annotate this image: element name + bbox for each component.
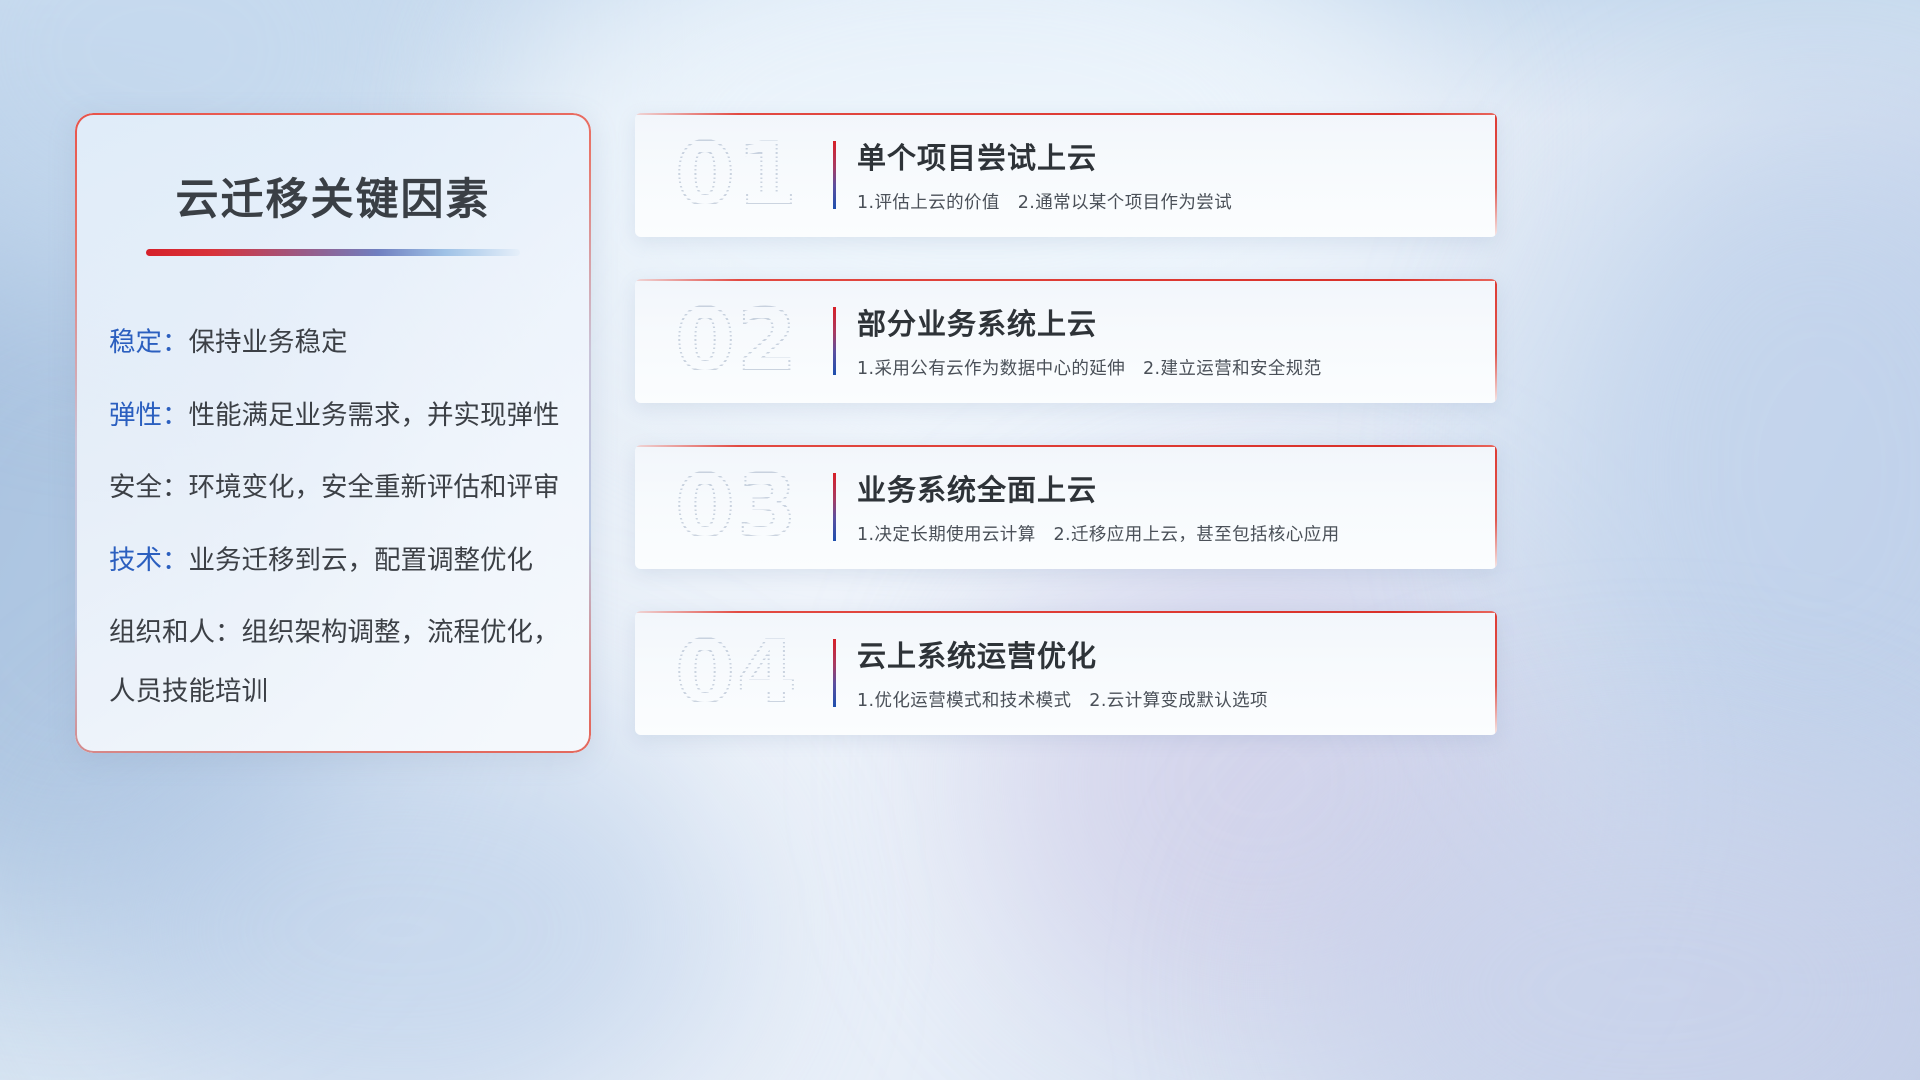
- list-item: 技术：业务迁移到云，配置调整优化: [109, 548, 591, 575]
- stage-card[interactable]: 03 业务系统全面上云 1.决定长期使用云计算 2.迁移应用上云，甚至包括核心应…: [635, 445, 1497, 569]
- stage-title: 业务系统全面上云: [857, 467, 1457, 509]
- list-item: 安全：环境变化，安全重新评估和评审: [109, 475, 591, 502]
- stage-title: 单个项目尝试上云: [857, 135, 1457, 177]
- stage-card-list: 01 单个项目尝试上云 1.评估上云的价值 2.通常以某个项目作为尝试 02 部…: [635, 113, 1497, 777]
- factor-label: 稳定：: [109, 327, 189, 358]
- stage-number-02: 02: [657, 293, 817, 389]
- factor-text: 性能满足业务需求，并实现弹性: [189, 400, 560, 431]
- stage-title: 云上系统运营优化: [857, 633, 1457, 675]
- list-item: 弹性：性能满足业务需求，并实现弹性: [109, 403, 591, 430]
- stage-description: 1.采用公有云作为数据中心的延伸 2.建立运营和安全规范: [857, 355, 1457, 380]
- stage-card[interactable]: 04 云上系统运营优化 1.优化运营模式和技术模式 2.云计算变成默认选项: [635, 611, 1497, 735]
- stage-number-04: 04: [657, 625, 817, 721]
- stage-number-01: 01: [657, 127, 817, 223]
- stage-description: 1.优化运营模式和技术模式 2.云计算变成默认选项: [857, 687, 1457, 712]
- list-item-continuation: 人员技能培训: [109, 679, 591, 706]
- list-item: 组织和人：组织架构调整，流程优化，: [109, 620, 591, 647]
- stage-number-text: 04: [675, 623, 799, 723]
- stage-number-text: 03: [675, 457, 799, 557]
- stage-accent-bar: [833, 473, 836, 541]
- stage-title: 部分业务系统上云: [857, 301, 1457, 343]
- factor-label: 组织和人：: [109, 617, 242, 648]
- list-item: 稳定：保持业务稳定: [109, 330, 591, 357]
- stage-number-03: 03: [657, 459, 817, 555]
- key-factors-panel: 云迁移关键因素 稳定：保持业务稳定 弹性：性能满足业务需求，并实现弹性 安全：环…: [75, 113, 591, 753]
- title-underline: [146, 249, 520, 256]
- factor-text: 保持业务稳定: [189, 327, 348, 358]
- stage-card[interactable]: 02 部分业务系统上云 1.采用公有云作为数据中心的延伸 2.建立运营和安全规范: [635, 279, 1497, 403]
- stage-number-text: 01: [675, 125, 799, 225]
- factor-text: 环境变化，安全重新评估和评审: [189, 472, 560, 503]
- factor-label: 安全：: [109, 472, 189, 503]
- factor-list: 稳定：保持业务稳定 弹性：性能满足业务需求，并实现弹性 安全：环境变化，安全重新…: [75, 256, 591, 705]
- stage-card[interactable]: 01 单个项目尝试上云 1.评估上云的价值 2.通常以某个项目作为尝试: [635, 113, 1497, 237]
- stage-number-text: 02: [675, 291, 799, 391]
- factor-label: 弹性：: [109, 400, 189, 431]
- stage-accent-bar: [833, 307, 836, 375]
- stage-description: 1.评估上云的价值 2.通常以某个项目作为尝试: [857, 189, 1457, 214]
- stage-accent-bar: [833, 141, 836, 209]
- stage-description: 1.决定长期使用云计算 2.迁移应用上云，甚至包括核心应用: [857, 521, 1457, 546]
- stage-accent-bar: [833, 639, 836, 707]
- factor-label: 技术：: [109, 545, 189, 576]
- factor-text: 组织架构调整，流程优化，: [242, 617, 560, 648]
- factor-text: 人员技能培训: [109, 676, 268, 707]
- page-title: 云迁移关键因素: [75, 113, 591, 227]
- factor-text: 业务迁移到云，配置调整优化: [189, 545, 534, 576]
